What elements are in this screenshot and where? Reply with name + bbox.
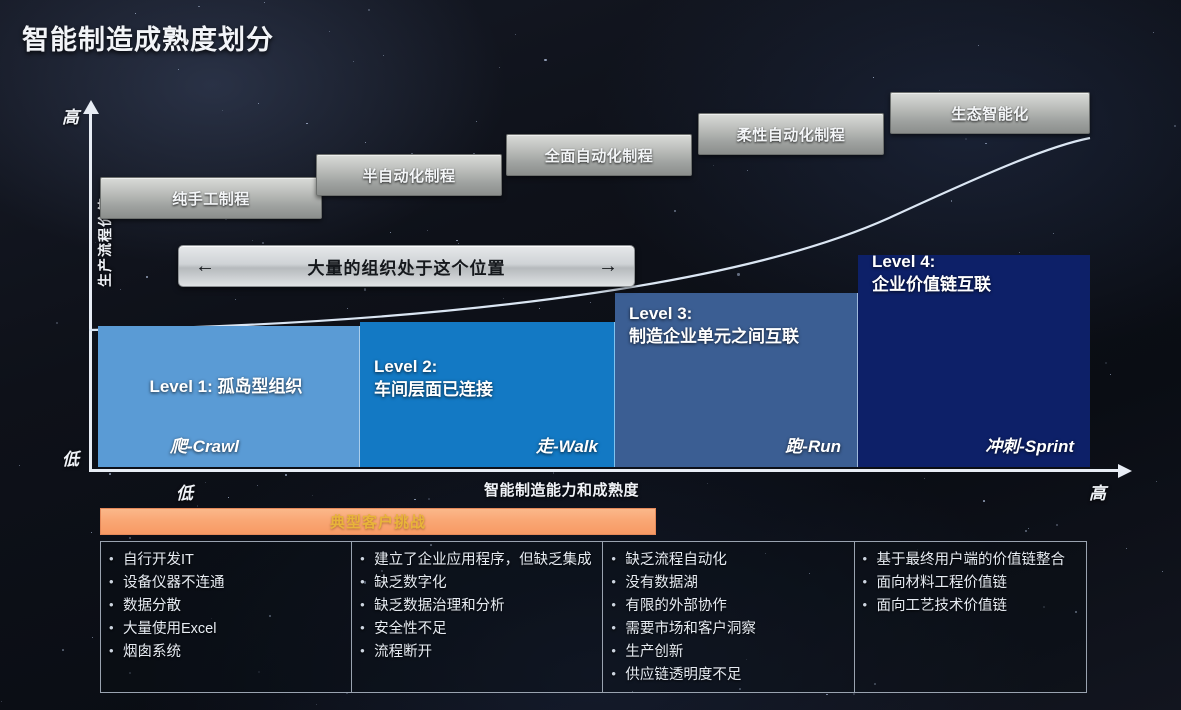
arrow-right-icon: → [598, 256, 618, 276]
maturity-step-3[interactable]: 全面自动化制程 [506, 134, 692, 176]
star-dot [1025, 530, 1027, 532]
y-axis-low-label: 低 [62, 445, 79, 470]
challenges-column-2: 建立了企业应用程序，但缺乏集成缺乏数字化缺乏数据治理和分析安全性不足流程断开 [352, 542, 603, 692]
star-dot [939, 90, 940, 91]
star-dot [109, 473, 111, 475]
level-2-title: Level 2: 车间层面已连接 [374, 356, 493, 402]
star-dot [1174, 125, 1176, 127]
challenge-item: 建立了企业应用程序，但缺乏集成 [374, 549, 594, 571]
challenge-item: 面向材料工程价值链 [877, 572, 1078, 594]
challenge-item: 流程断开 [374, 641, 594, 663]
star-dot [853, 693, 855, 695]
star-dot [62, 649, 64, 651]
level-2-stage: 走-Walk [536, 432, 598, 457]
star-dot [329, 31, 330, 32]
challenge-item: 安全性不足 [374, 618, 594, 640]
level-block-3[interactable]: Level 3: 制造企业单元之间互联 跑-Run [615, 293, 858, 467]
challenge-item: 大量使用Excel [123, 618, 343, 640]
star-dot [178, 69, 179, 70]
challenge-item: 生产创新 [625, 641, 845, 663]
challenges-column-1: 自行开发IT设备仪器不连通数据分散大量使用Excel烟囱系统 [101, 542, 352, 692]
star-dot [544, 59, 546, 61]
star-dot [205, 482, 206, 483]
level-block-2[interactable]: Level 2: 车间层面已连接 走-Walk [360, 322, 615, 467]
challenges-header: 典型客户挑战 [100, 508, 656, 535]
x-axis-high-label: 高 [1089, 479, 1106, 504]
x-axis-low-label: 低 [176, 479, 193, 504]
challenge-item: 需要市场和客户洞察 [625, 618, 845, 640]
star-dot [197, 505, 199, 507]
arrow-left-icon: ← [195, 256, 215, 276]
star-dot [924, 478, 925, 479]
maturity-step-1[interactable]: 纯手工制程 [100, 177, 322, 219]
star-dot [285, 474, 287, 476]
challenge-item: 没有数据湖 [625, 572, 845, 594]
challenges-table: 自行开发IT设备仪器不连通数据分散大量使用Excel烟囱系统 建立了企业应用程序… [100, 541, 1087, 693]
star-dot [56, 322, 58, 324]
challenge-item: 自行开发IT [123, 549, 343, 571]
challenge-item: 缺乏数据治理和分析 [374, 595, 594, 617]
star-dot [1105, 362, 1107, 364]
majority-position-text: 大量的组织处于这个位置 [215, 254, 598, 279]
challenge-item: 有限的外部协作 [625, 595, 845, 617]
challenge-item: 面向工艺技术价值链 [877, 595, 1078, 617]
star-dot [1110, 374, 1111, 375]
star-dot [129, 537, 131, 539]
level-block-4[interactable]: Level 4: 企业价值链互联 冲刺-Sprint [858, 255, 1090, 467]
level-1-stage: 爬-Crawl [170, 432, 239, 457]
challenges-list-4: 基于最终用户端的价值链整合面向材料工程价值链面向工艺技术价值链 [861, 549, 1078, 617]
star-dot [983, 500, 985, 502]
challenges-list-2: 建立了企业应用程序，但缺乏集成缺乏数字化缺乏数据治理和分析安全性不足流程断开 [358, 549, 594, 663]
level-2-subtitle: 车间层面已连接 [374, 379, 493, 402]
level-3-title: Level 3: 制造企业单元之间互联 [629, 303, 799, 349]
challenge-item: 缺乏数字化 [374, 572, 594, 594]
star-dot [873, 77, 874, 78]
star-dot [383, 55, 384, 56]
challenge-item: 缺乏流程自动化 [625, 549, 845, 571]
challenge-item: 数据分散 [123, 595, 343, 617]
x-axis-arrow-icon [1118, 464, 1132, 478]
star-dot [1056, 524, 1058, 526]
y-axis-high-label: 高 [62, 103, 79, 128]
star-dot [707, 483, 708, 484]
challenge-item: 基于最终用户端的价值链整合 [877, 549, 1078, 571]
star-dot [826, 694, 828, 696]
challenges-column-3: 缺乏流程自动化没有数据湖有限的外部协作需要市场和客户洞察生产创新供应链透明度不足 [603, 542, 854, 692]
star-dot [228, 497, 229, 498]
level-4-title: Level 4: 企业价值链互联 [872, 255, 991, 297]
level-4-title-text: Level 4: [872, 255, 991, 274]
star-dot [978, 45, 979, 46]
star-dot [19, 465, 20, 466]
star-dot [1162, 571, 1163, 572]
challenges-list-1: 自行开发IT设备仪器不连通数据分散大量使用Excel烟囱系统 [107, 549, 343, 663]
level-1-title: Level 1: 孤岛型组织 [106, 376, 346, 399]
challenge-item: 设备仪器不连通 [123, 572, 343, 594]
level-block-1[interactable]: Level 1: 孤岛型组织 爬-Crawl [98, 326, 360, 467]
star-dot [91, 532, 92, 533]
challenges-column-4: 基于最终用户端的价值链整合面向材料工程价值链面向工艺技术价值链 [855, 542, 1086, 692]
star-dot [553, 472, 554, 473]
majority-position-banner: ← 大量的组织处于这个位置 → [178, 245, 635, 287]
maturity-step-5[interactable]: 生态智能化 [890, 92, 1090, 134]
star-dot [135, 13, 136, 14]
star-dot [1126, 548, 1127, 549]
star-dot [316, 704, 317, 705]
challenge-item: 供应链透明度不足 [625, 664, 845, 686]
level-2-title-text: Level 2: [374, 356, 493, 379]
challenges-list-3: 缺乏流程自动化没有数据湖有限的外部协作需要市场和客户洞察生产创新供应链透明度不足 [609, 549, 845, 686]
star-dot [1156, 481, 1157, 482]
star-dot [92, 637, 93, 638]
level-3-subtitle: 制造企业单元之间互联 [629, 326, 799, 349]
maturity-step-4[interactable]: 柔性自动化制程 [698, 113, 884, 155]
page-title: 智能制造成熟度划分 [22, 18, 274, 57]
star-dot [1028, 528, 1029, 529]
level-3-stage: 跑-Run [785, 432, 841, 457]
star-dot [414, 499, 415, 500]
level-4-subtitle: 企业价值链互联 [872, 274, 991, 297]
star-dot [264, 2, 265, 3]
maturity-step-2[interactable]: 半自动化制程 [316, 154, 502, 196]
level-3-title-text: Level 3: [629, 303, 799, 326]
level-4-stage: 冲刺-Sprint [985, 432, 1074, 457]
star-dot [1153, 32, 1154, 33]
star-dot [499, 67, 500, 68]
star-dot [198, 6, 199, 7]
x-axis-title: 智能制造能力和成熟度 [484, 479, 639, 500]
star-dot [1, 701, 2, 702]
star-dot [428, 498, 430, 500]
star-dot [515, 34, 517, 36]
star-dot [368, 9, 369, 10]
star-dot [312, 495, 313, 496]
star-dot [257, 485, 258, 486]
challenge-item: 烟囱系统 [123, 641, 343, 663]
star-dot [353, 61, 354, 62]
